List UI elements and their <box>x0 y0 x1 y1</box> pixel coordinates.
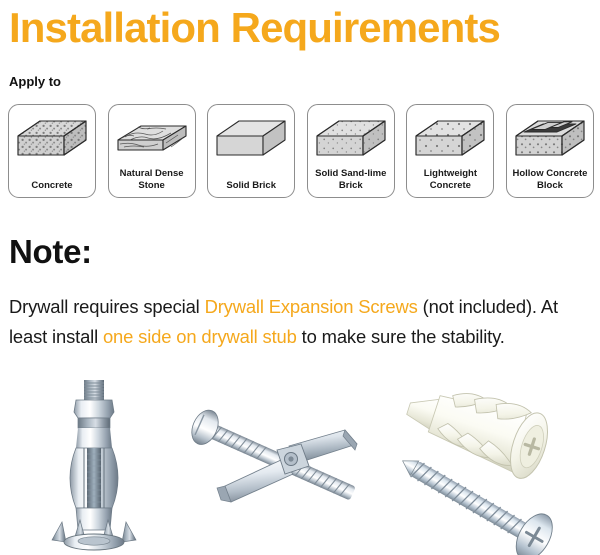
material-label: Hollow Concrete Block <box>509 168 591 191</box>
hollow-slotted-block-icon <box>507 110 593 164</box>
product-photo-band <box>0 374 600 555</box>
product-image-metal-hollow-wall-molly-bolt-anchor <box>18 374 178 555</box>
plain-block-icon <box>208 110 294 164</box>
note-heading: Note: <box>9 233 92 271</box>
material-card-lightweight-concrete: Lightweight Concrete <box>406 104 494 198</box>
flat-stone-slab-icon <box>109 110 195 164</box>
material-label: Solid Sand-lime Brick <box>310 168 392 191</box>
material-label: Solid Brick <box>210 180 292 192</box>
material-label: Lightweight Concrete <box>409 168 491 191</box>
fine-speckled-block-icon <box>308 110 394 164</box>
material-card-hollow-concrete-block: Hollow Concrete Block <box>506 104 594 198</box>
material-card-concrete: Concrete <box>8 104 96 198</box>
material-list: Concrete <box>8 104 594 198</box>
material-label: Concrete <box>11 180 93 192</box>
material-card-natural-dense-stone: Natural Dense Stone <box>108 104 196 198</box>
sparse-speckled-block-icon <box>407 110 493 164</box>
product-image-spring-toggle-bolt-with-wings <box>185 374 385 555</box>
page-title: Installation Requirements <box>9 2 597 54</box>
note-body: Drywall requires special Drywall Expansi… <box>9 292 593 352</box>
note-highlight-drywall-expansion-screws: Drywall Expansion Screws <box>205 296 418 317</box>
note-segment: to make sure the stability. <box>297 326 505 347</box>
product-image-white-nylon-self-drilling-drywall-anchor-with-screw <box>388 374 598 555</box>
note-segment: Drywall requires special <box>9 296 205 317</box>
apply-to-label: Apply to <box>9 74 61 89</box>
material-label: Natural Dense Stone <box>111 168 193 191</box>
material-card-solid-sand-lime-brick: Solid Sand-lime Brick <box>307 104 395 198</box>
speckled-block-icon <box>9 110 95 164</box>
material-card-solid-brick: Solid Brick <box>207 104 295 198</box>
note-highlight-one-side-on-drywall-stub: one side on drywall stub <box>103 326 297 347</box>
